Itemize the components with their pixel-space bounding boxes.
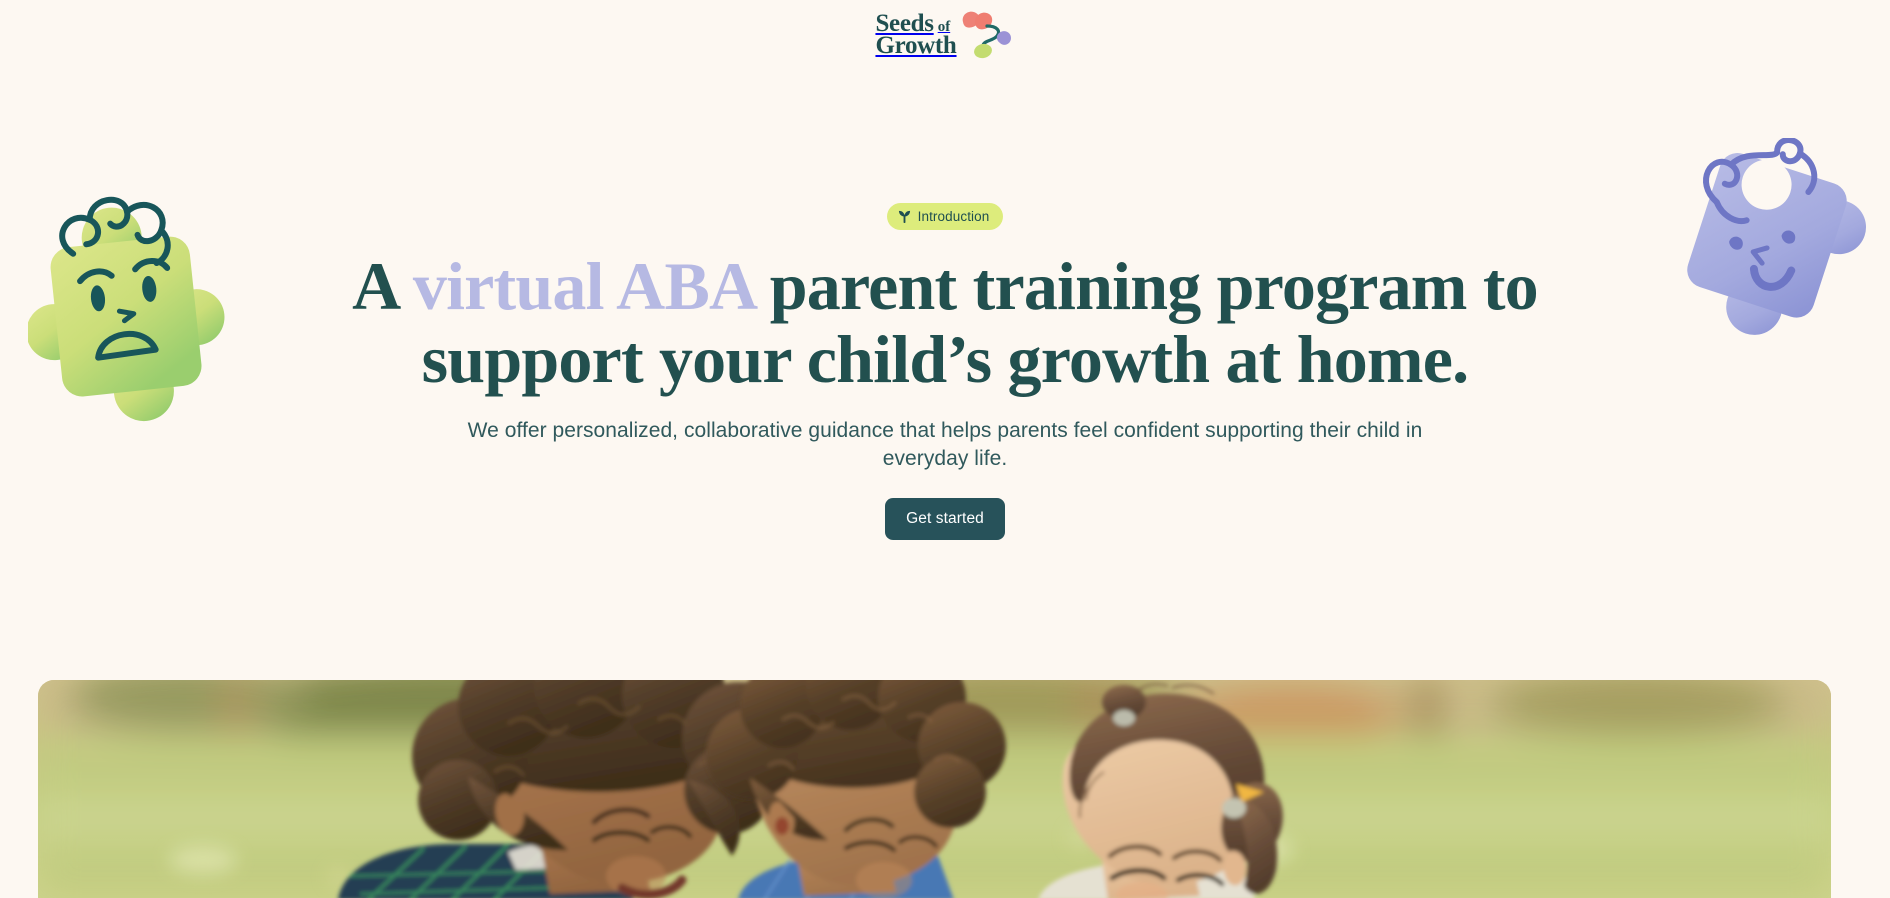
hero-section: Introduction A virtual ABA parent traini…: [0, 132, 1890, 540]
get-started-button[interactable]: Get started: [885, 498, 1005, 540]
sprout-icon: [898, 210, 911, 223]
introduction-badge-label: Introduction: [918, 209, 990, 224]
introduction-badge: Introduction: [887, 203, 1004, 230]
landing-page: Seeds of Growth: [0, 0, 1890, 898]
page-title: A virtual ABA parent training program to…: [295, 250, 1595, 397]
page-subtitle: We offer personalized, collaborative gui…: [430, 417, 1460, 472]
site-header: Seeds of Growth: [0, 0, 1890, 72]
headline-accent: virtual ABA: [413, 248, 754, 324]
site-logo[interactable]: Seeds of Growth: [875, 13, 1014, 63]
headline-part-one: A: [352, 248, 413, 324]
three-children-playing-outdoors-photo: [38, 680, 1831, 898]
logo-word-growth: Growth: [875, 35, 956, 57]
logo-wordmark: Seeds of Growth: [875, 13, 956, 57]
sprouting-seed-leaves-mark-icon: [957, 9, 1015, 59]
